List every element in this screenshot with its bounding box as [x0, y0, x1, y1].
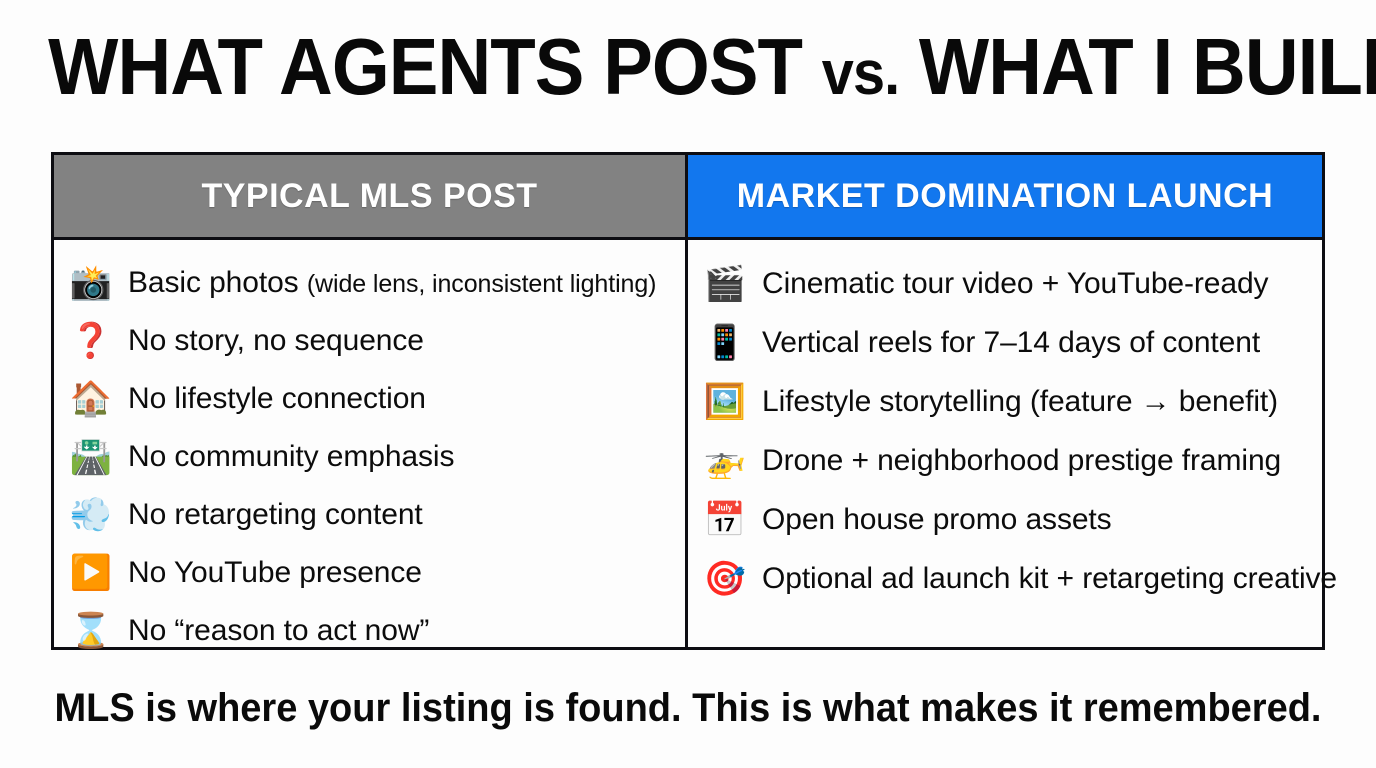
column-typical-mls-post: TYPICAL MLS POST 📸 Basic photos (wide le… [54, 155, 688, 647]
list-item-label: No retargeting content [128, 498, 423, 532]
list-item: 💨 No retargeting content [68, 486, 673, 544]
page-title-vs: vs. [822, 39, 899, 108]
comparison-poster: WHAT AGENTS POST vs. WHAT I BUILD TYPICA… [0, 0, 1376, 768]
list-item: 🖼️ Lifestyle storytelling (feature → ben… [702, 372, 1310, 431]
list-item-label: Cinematic tour video + YouTube-ready [762, 267, 1268, 301]
list-item-label: Basic photos (wide lens, inconsistent li… [128, 266, 656, 301]
column-market-domination-launch: MARKET DOMINATION LAUNCH 🎬 Cinematic tou… [688, 155, 1322, 647]
list-item: 🛣️ No community emphasis [68, 428, 673, 486]
family-photo-icon: 🖼️ [702, 379, 748, 425]
question-mark-icon: ❓ [68, 318, 114, 364]
list-item-label: Vertical reels for 7–14 days of content [762, 326, 1260, 360]
list-item: 🚁 Drone + neighborhood prestige framing [702, 431, 1310, 490]
mobile-phone-icon: 📱 [702, 320, 748, 366]
dart-target-icon: 🎯 [702, 556, 748, 602]
page-title-part2: WHAT I BUILD [899, 22, 1376, 111]
drone-icon: 🚁 [702, 438, 748, 484]
comparison-table: TYPICAL MLS POST 📸 Basic photos (wide le… [51, 152, 1325, 650]
list-item-label: No community emphasis [128, 440, 454, 474]
list-item-sub: (wide lens, inconsistent lighting) [307, 270, 657, 298]
footer-tagline: MLS is where your listing is found. This… [34, 684, 1341, 732]
list-item-label: Optional ad launch kit + retargeting cre… [762, 562, 1337, 596]
youtube-play-icon: ▶️ [68, 550, 114, 596]
house-icon: 🏠 [68, 376, 114, 422]
list-item-label: Drone + neighborhood prestige framing [762, 444, 1281, 478]
list-item-label: No YouTube presence [128, 556, 422, 590]
list-item: 📸 Basic photos (wide lens, inconsistent … [68, 254, 673, 312]
list-item: 🏠 No lifestyle connection [68, 370, 673, 428]
column-body-market-domination-launch: 🎬 Cinematic tour video + YouTube-ready 📱… [688, 240, 1322, 647]
list-item-label: Open house promo assets [762, 503, 1112, 537]
list-item-label: No lifestyle connection [128, 382, 426, 416]
list-item: 📅 Open house promo assets [702, 490, 1310, 549]
list-item-main: Basic photos [128, 266, 307, 299]
list-item: 🎬 Cinematic tour video + YouTube-ready [702, 254, 1310, 313]
list-item: ▶️ No YouTube presence [68, 544, 673, 602]
list-item-label: No “reason to act now” [128, 614, 429, 648]
list-item: ❓ No story, no sequence [68, 312, 673, 370]
dashing-away-icon: 💨 [68, 492, 114, 538]
list-item: 📱 Vertical reels for 7–14 days of conten… [702, 313, 1310, 372]
list-item-label: No story, no sequence [128, 324, 424, 358]
clapper-board-icon: 🎬 [702, 261, 748, 307]
list-item-label: Lifestyle storytelling (feature → benefi… [762, 385, 1278, 419]
list-item: ⌛ No “reason to act now” [68, 602, 673, 660]
column-header-market-domination-launch: MARKET DOMINATION LAUNCH [688, 155, 1322, 240]
calendar-icon: 📅 [702, 497, 748, 543]
camera-with-flash-icon: 📸 [68, 260, 114, 306]
hourglass-icon: ⌛ [68, 608, 114, 654]
page-title: WHAT AGENTS POST vs. WHAT I BUILD [48, 24, 1328, 117]
column-body-typical-mls-post: 📸 Basic photos (wide lens, inconsistent … [54, 240, 685, 670]
column-header-typical-mls-post: TYPICAL MLS POST [54, 155, 685, 240]
list-item: 🎯 Optional ad launch kit + retargeting c… [702, 549, 1310, 608]
page-title-part1: WHAT AGENTS POST [48, 22, 822, 111]
road-icon: 🛣️ [68, 434, 114, 480]
